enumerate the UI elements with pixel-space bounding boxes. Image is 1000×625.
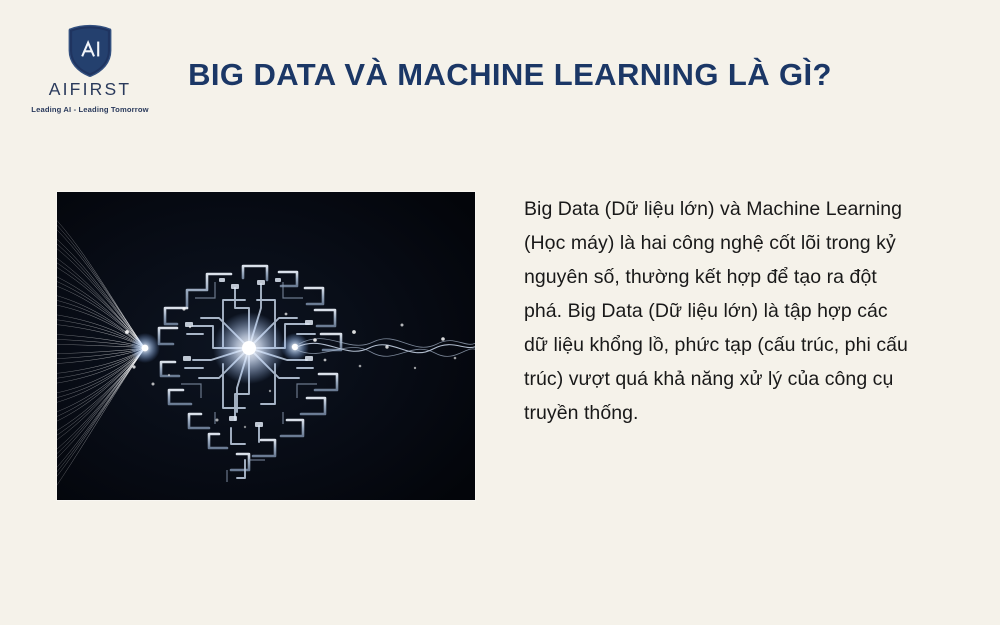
slide-root: AIFIRST Leading AI - Leading Tomorrow BI… — [0, 0, 1000, 625]
brand-wordmark: AIFIRST — [20, 81, 160, 99]
brain-circuit-image — [57, 192, 475, 500]
brand-tagline: Leading AI - Leading Tomorrow — [20, 106, 160, 114]
brand-logo: AIFIRST Leading AI - Leading Tomorrow — [20, 24, 160, 113]
shield-ai-icon — [67, 24, 113, 78]
slide-header: AIFIRST Leading AI - Leading Tomorrow BI… — [0, 0, 1000, 150]
brain-circuit-illustration — [57, 192, 475, 500]
body-paragraph: Big Data (Dữ liệu lớn) và Machine Learni… — [524, 192, 912, 430]
page-title: BIG DATA VÀ MACHINE LEARNING LÀ GÌ? — [150, 58, 870, 92]
